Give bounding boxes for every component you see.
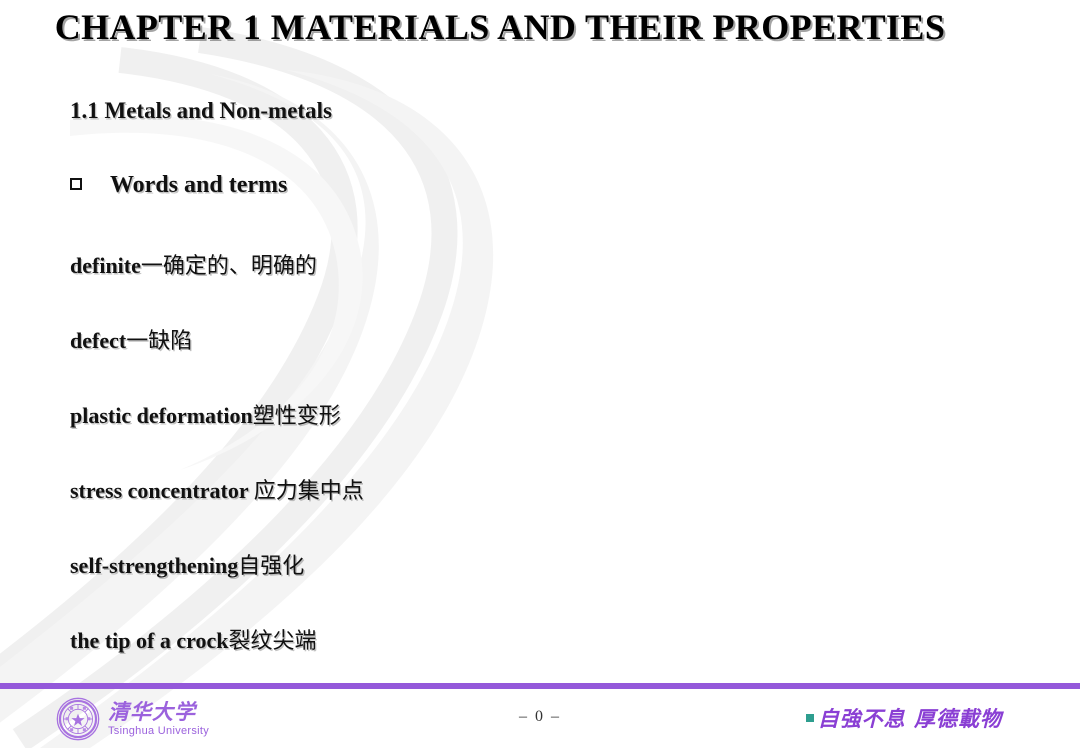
bullet-label: Words and terms [110,172,287,198]
slide-title-bar: CHAPTER 1 MATERIALS AND THEIR PROPERTIES [0,0,1080,58]
term-row: stress concentrator 应力集中点 [70,473,364,505]
term-row: defect一缺陷 [70,323,192,355]
term-en: defect [70,328,126,353]
square-dot-icon [806,714,814,722]
term-zh: 一缺陷 [126,329,192,354]
section-heading: 1.1 Metals and Non-metals [70,98,332,124]
term-en: stress concentrator [70,478,254,503]
term-row: definite一确定的、明确的 [70,248,317,280]
logo-english-name: Tsinghua University [108,725,209,737]
term-zh: 塑性变形 [253,404,341,429]
slide-body: 1.1 Metals and Non-metals Words and term… [0,58,1080,678]
title-divider [0,51,1080,58]
square-bullet-icon [70,178,82,190]
slide-footer: 清华大学 Tsinghua University – 0 – 自強不息 厚德載物 [0,689,1080,748]
bullet-words-and-terms: Words and terms [70,172,287,199]
term-row: self-strengthening自强化 [70,548,304,580]
term-en: definite [70,253,141,278]
term-zh: 自强化 [238,554,304,579]
term-en: plastic deformation [70,403,253,428]
term-row: the tip of a crock裂纹尖端 [70,623,316,655]
term-zh: 应力集中点 [254,479,364,504]
term-en: self-strengthening [70,553,238,578]
page-title: CHAPTER 1 MATERIALS AND THEIR PROPERTIES [0,6,1000,48]
motto-block: 自強不息 厚德載物 [806,703,1002,733]
slide-canvas: CHAPTER 1 MATERIALS AND THEIR PROPERTIES… [0,0,1080,748]
motto-text: 自強不息 厚德載物 [818,703,1002,733]
term-row: plastic deformation塑性变形 [70,398,341,430]
term-en: the tip of a crock [70,628,228,653]
term-zh: 裂纹尖端 [228,629,316,654]
term-zh: 一确定的、明确的 [141,254,317,279]
